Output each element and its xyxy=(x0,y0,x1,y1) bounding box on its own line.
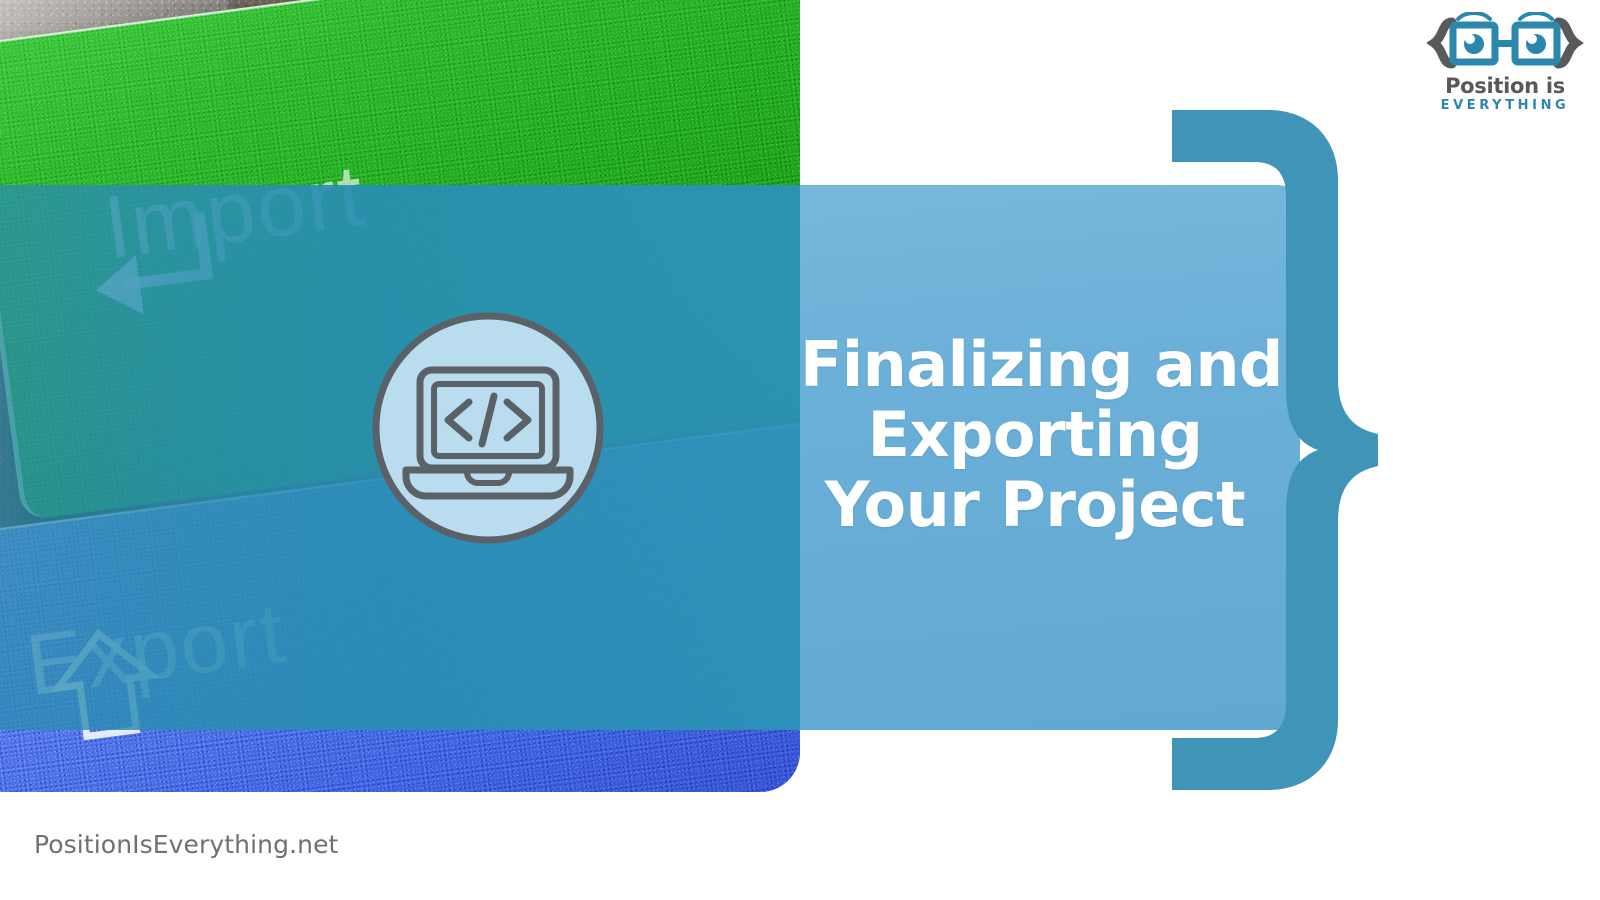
glasses-brackets-logo-icon xyxy=(1420,12,1590,74)
laptop-code-icon xyxy=(360,310,616,546)
logo-text-primary: Position is xyxy=(1420,74,1590,98)
site-logo[interactable]: Position is EVERYTHING xyxy=(1420,12,1590,117)
hero-banner: Import Export Finalizing and Expo xyxy=(0,0,1600,900)
site-url[interactable]: PositionIsEverything.net xyxy=(34,830,338,859)
curly-brace-right-icon xyxy=(1150,110,1380,790)
logo-text-secondary: EVERYTHING xyxy=(1420,98,1590,113)
